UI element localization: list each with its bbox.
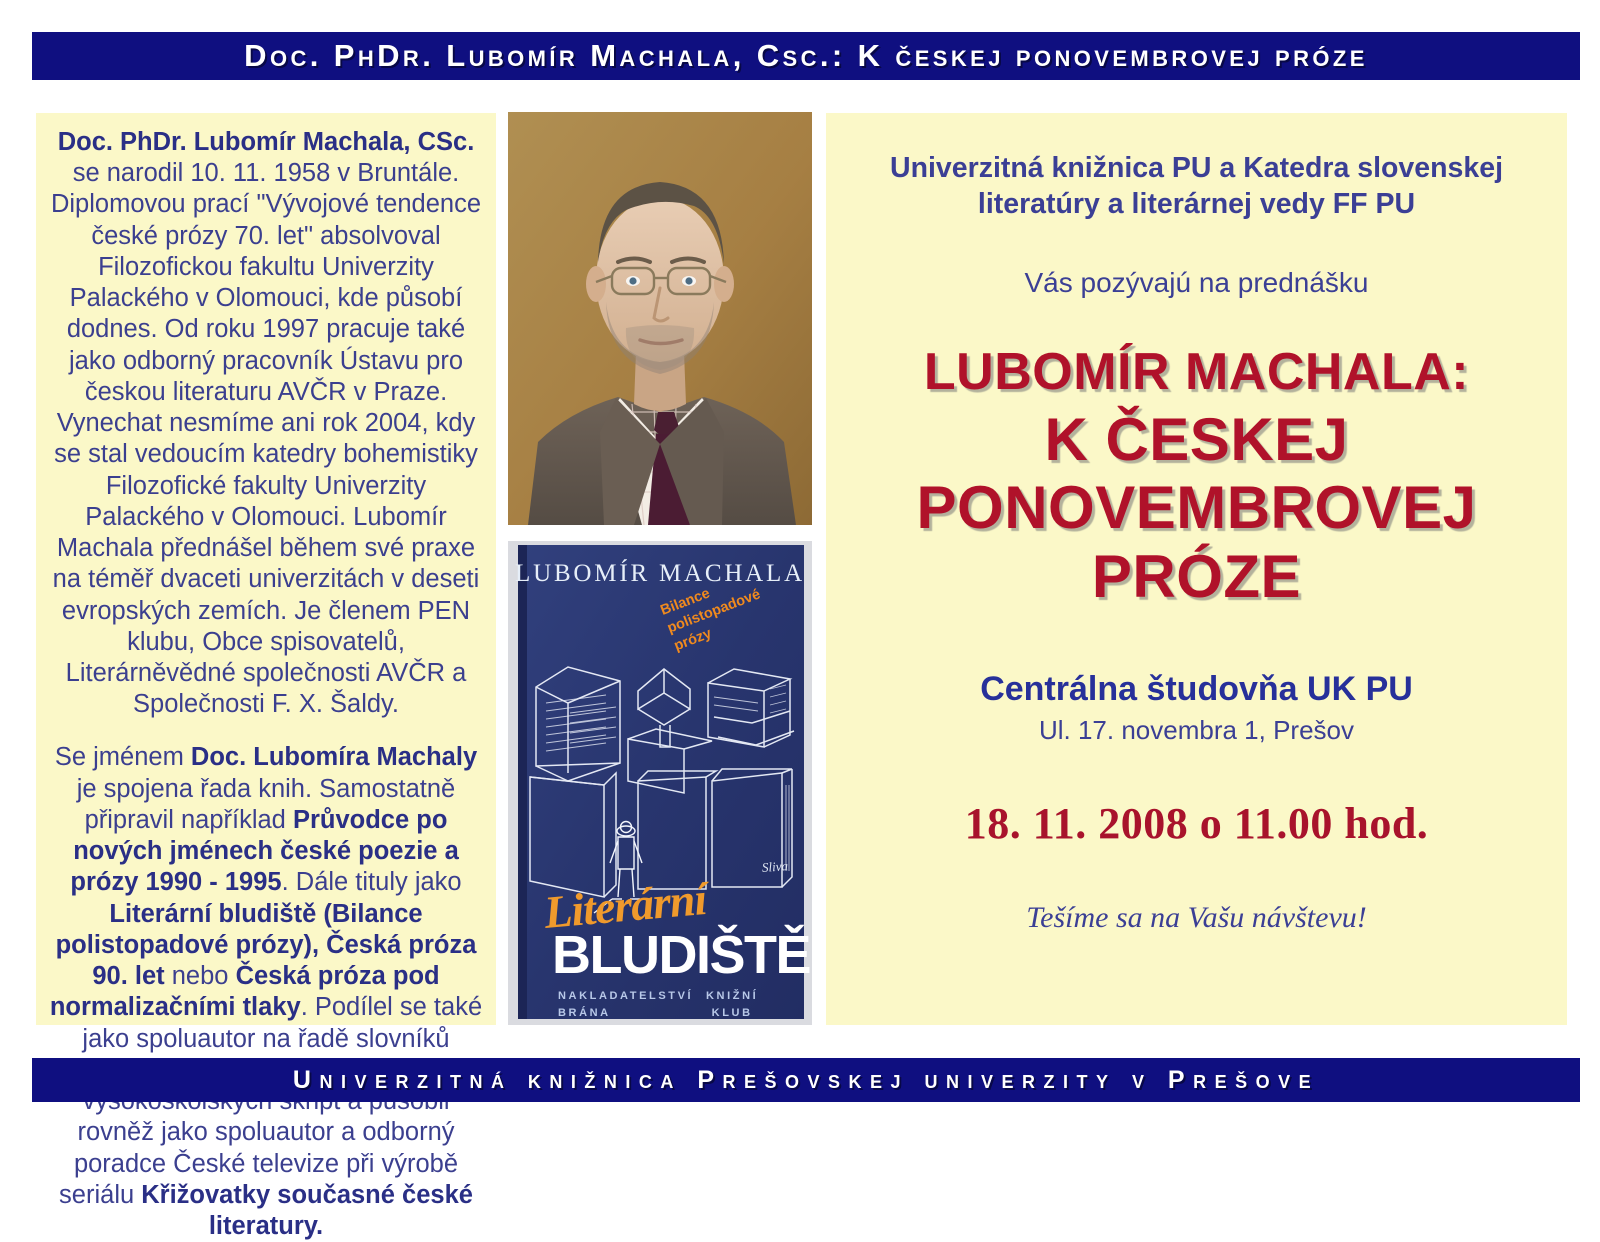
organizers-line2: literatúry a literárnej vedy FF PU [978,188,1415,220]
publisher1-line1: NAKLADATELSTVÍ [558,990,693,1002]
portrait-photo [508,112,812,525]
lecture-title-line1: LUBOMÍR MACHALA: [846,345,1547,399]
book-cover-author: LUBOMÍR MACHALA [508,560,812,588]
invitation-text: Vás pozývajú na prednášku [846,267,1547,299]
header-title: Doc. PhDr. Lubomír Machala, Csc.: K česk… [244,38,1368,74]
biography-lead-name: Doc. PhDr. Lubomír Machala, CSc. [58,128,475,156]
invitation-panel: Univerzitná knižnica PU a Katedra sloven… [826,113,1567,1025]
organizers: Univerzitná knižnica PU a Katedra sloven… [846,151,1547,223]
bio2-bold1: Doc. Lubomíra Machaly [191,743,477,771]
bio2-seg1: Se jménem [55,743,191,771]
footer-banner: Univerzitná knižnica Prešovskej univerzi… [32,1058,1580,1102]
venue-name: Centrálna študovňa UK PU [846,670,1547,709]
biography-panel: Doc. PhDr. Lubomír Machala, CSc. se naro… [36,113,496,1025]
book-title-main: BLUDIŠTĚ [552,924,810,986]
book-illustrator-signature: Sliva [761,858,788,876]
publisher2-line1: KNIŽNÍ [706,990,758,1002]
lecture-title-line3: PONOVEMBROVEJ [846,477,1547,539]
event-datetime: 18. 11. 2008 o 11.00 hod. [846,798,1547,849]
book-publisher-brana: NAKLADATELSTVÍ BRÁNA [558,988,693,1021]
lecture-title: LUBOMÍR MACHALA: K ČESKEJ PONOVEMBROVEJ … [846,345,1547,608]
book-publisher-knizni-klub: KNIŽNÍ KLUB [706,988,758,1021]
biography-body-1: se narodil 10. 11. 1958 v Bruntále. Dipl… [51,159,481,718]
organizers-line1: Univerzitná knižnica PU a Katedra sloven… [890,152,1503,184]
footer-title: Univerzitná knižnica Prešovskej univerzi… [293,1066,1319,1095]
publisher1-line2: BRÁNA [558,1007,611,1019]
header-banner: Doc. PhDr. Lubomír Machala, Csc.: K česk… [32,32,1580,80]
closing-message: Tešíme sa na Vašu návštevu! [846,901,1547,935]
book-cover-image: LUBOMÍR MACHALA Bilance polistopadové pr… [508,541,812,1025]
bio2-bold5: Křižovatky současné české literatury. [141,1181,473,1240]
venue-address: Ul. 17. novembra 1, Prešov [846,715,1547,746]
bio2-seg4: nebo [165,962,236,990]
publisher2-line2: KLUB [712,1007,753,1019]
portrait-illustration [508,112,812,525]
biography-paragraph-1: Doc. PhDr. Lubomír Machala, CSc. se naro… [46,127,486,720]
lecture-title-line4: PRÓZE [846,546,1547,608]
biography-paragraph-2: Se jménem Doc. Lubomíra Machaly je spoje… [46,742,486,1242]
lecture-title-line2: K ČESKEJ [846,409,1547,471]
bio2-seg3: . Dále tituly jako [282,868,462,896]
